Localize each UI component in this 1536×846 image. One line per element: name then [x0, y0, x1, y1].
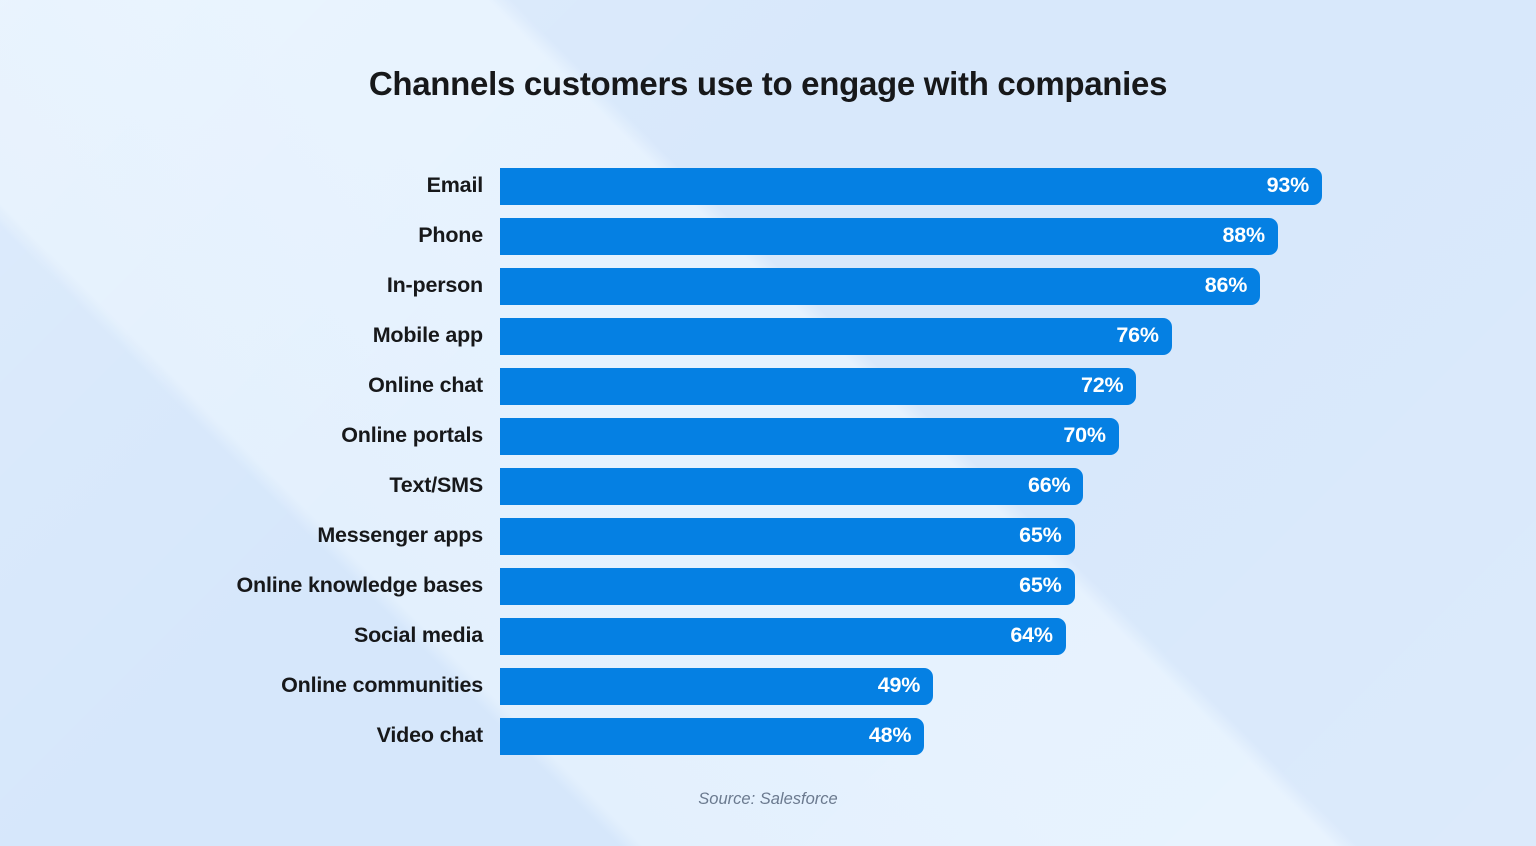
bar-row: Online communities49%: [0, 661, 1536, 711]
bar[interactable]: 93%: [500, 168, 1322, 205]
bar-track: 66%: [500, 468, 1536, 505]
bar[interactable]: 70%: [500, 418, 1119, 455]
bar-row: Online knowledge bases65%: [0, 561, 1536, 611]
bar-value-label: 70%: [1063, 425, 1105, 447]
bar-category-label: Text/SMS: [0, 475, 500, 497]
chart-title: Channels customers use to engage with co…: [0, 65, 1536, 103]
bar-category-label: Online chat: [0, 375, 500, 397]
bar-row: Mobile app76%: [0, 311, 1536, 361]
bar-track: 70%: [500, 418, 1536, 455]
bar[interactable]: 65%: [500, 518, 1075, 555]
bar[interactable]: 72%: [500, 368, 1136, 405]
bar[interactable]: 48%: [500, 718, 924, 755]
bar[interactable]: 66%: [500, 468, 1083, 505]
bar-category-label: Online knowledge bases: [0, 575, 500, 597]
bar-category-label: Online communities: [0, 675, 500, 697]
bar-category-label: Messenger apps: [0, 525, 500, 547]
bar[interactable]: 86%: [500, 268, 1260, 305]
bar-category-label: In-person: [0, 275, 500, 297]
bar-category-label: Email: [0, 175, 500, 197]
bar-track: 65%: [500, 518, 1536, 555]
bar-track: 49%: [500, 668, 1536, 705]
bar-value-label: 72%: [1081, 375, 1123, 397]
bar-row: Video chat48%: [0, 711, 1536, 761]
bar-value-label: 86%: [1205, 275, 1247, 297]
bar-value-label: 65%: [1019, 575, 1061, 597]
bar-track: 64%: [500, 618, 1536, 655]
bar-value-label: 88%: [1222, 225, 1264, 247]
bar-value-label: 66%: [1028, 475, 1070, 497]
bar-row: Phone88%: [0, 211, 1536, 261]
bar-value-label: 76%: [1116, 325, 1158, 347]
chart-page: Channels customers use to engage with co…: [0, 0, 1536, 846]
bar-track: 72%: [500, 368, 1536, 405]
bar-row: Messenger apps65%: [0, 511, 1536, 561]
bar-row: Email93%: [0, 161, 1536, 211]
bar[interactable]: 88%: [500, 218, 1278, 255]
bar-row: Online chat72%: [0, 361, 1536, 411]
bar-category-label: Video chat: [0, 725, 500, 747]
bar[interactable]: 65%: [500, 568, 1075, 605]
bar-value-label: 65%: [1019, 525, 1061, 547]
bar-value-label: 93%: [1267, 175, 1309, 197]
bar-category-label: Social media: [0, 625, 500, 647]
bar-value-label: 49%: [878, 675, 920, 697]
bar-track: 48%: [500, 718, 1536, 755]
bar-track: 88%: [500, 218, 1536, 255]
bar-category-label: Phone: [0, 225, 500, 247]
bar-value-label: 48%: [869, 725, 911, 747]
bar-row: Text/SMS66%: [0, 461, 1536, 511]
bar[interactable]: 49%: [500, 668, 933, 705]
bar-category-label: Mobile app: [0, 325, 500, 347]
bar[interactable]: 76%: [500, 318, 1172, 355]
bar-track: 76%: [500, 318, 1536, 355]
bar-row: In-person86%: [0, 261, 1536, 311]
bar-category-label: Online portals: [0, 425, 500, 447]
bar-row: Online portals70%: [0, 411, 1536, 461]
bar-row: Social media64%: [0, 611, 1536, 661]
bar[interactable]: 64%: [500, 618, 1066, 655]
bar-track: 93%: [500, 168, 1536, 205]
bar-track: 65%: [500, 568, 1536, 605]
bar-chart-plot-area: Email93%Phone88%In-person86%Mobile app76…: [0, 161, 1536, 761]
bar-value-label: 64%: [1010, 625, 1052, 647]
bar-track: 86%: [500, 268, 1536, 305]
chart-source-caption: Source: Salesforce: [0, 790, 1536, 809]
